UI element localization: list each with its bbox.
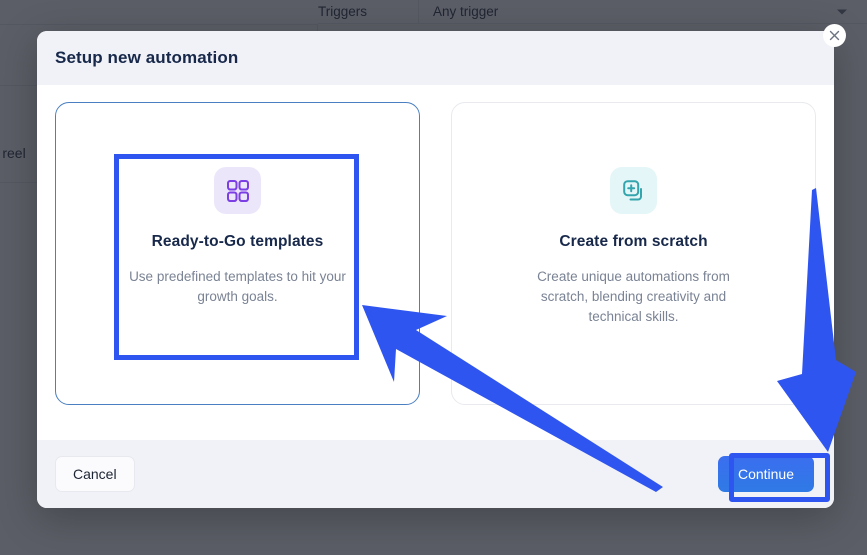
- modal-title: Setup new automation: [55, 48, 238, 68]
- grid-squares-icon: [214, 167, 261, 214]
- modal-footer: Cancel Continue: [37, 440, 834, 508]
- cancel-button[interactable]: Cancel: [55, 456, 135, 492]
- option-description: Create unique automations from scratch, …: [515, 267, 753, 327]
- close-icon[interactable]: [823, 24, 846, 47]
- setup-automation-modal: Setup new automation Ready-to-Go templat…: [37, 31, 834, 508]
- screenshot-root: Triggers Any trigger or reel Setup new a…: [0, 0, 867, 555]
- option-card-create-from-scratch[interactable]: Create from scratch Create unique automa…: [451, 102, 816, 405]
- modal-body: Ready-to-Go templates Use predefined tem…: [37, 85, 834, 440]
- option-title: Ready-to-Go templates: [152, 233, 324, 251]
- option-description: Use predefined templates to hit your gro…: [119, 267, 357, 307]
- option-title: Create from scratch: [559, 233, 707, 251]
- modal-header: Setup new automation: [37, 31, 834, 85]
- option-card-ready-to-go-templates[interactable]: Ready-to-Go templates Use predefined tem…: [55, 102, 420, 405]
- continue-button[interactable]: Continue: [718, 456, 814, 492]
- add-duplicate-icon: [610, 167, 657, 214]
